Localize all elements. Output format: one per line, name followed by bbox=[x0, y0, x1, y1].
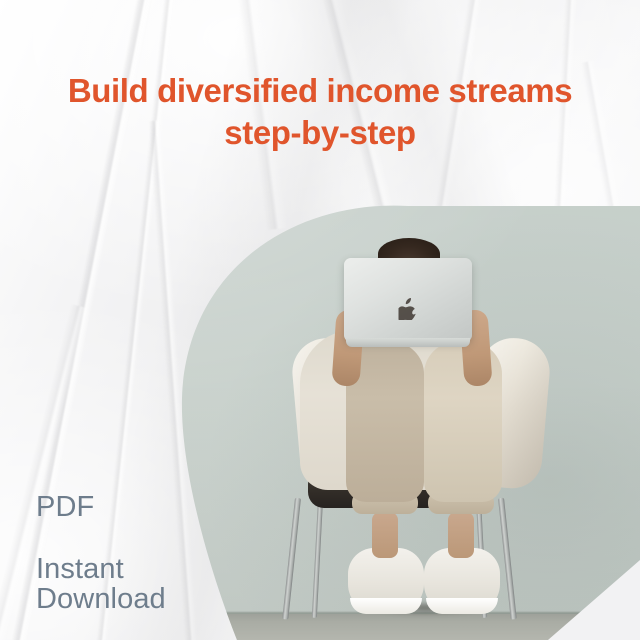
ankle bbox=[372, 512, 398, 558]
delivery-line-2: Download bbox=[36, 584, 166, 614]
headline-line-1: Build diversified income streams bbox=[0, 70, 640, 112]
ankle bbox=[448, 512, 474, 558]
headline-line-2: step-by-step bbox=[0, 112, 640, 154]
delivery-line-1: Instant bbox=[36, 554, 166, 584]
product-listing-graphic: Build diversified income streams step-by… bbox=[0, 0, 640, 640]
apple-logo-icon bbox=[399, 298, 418, 320]
macbook-laptop bbox=[344, 258, 472, 342]
page-title: Build diversified income streams step-by… bbox=[0, 70, 640, 154]
laptop-edge bbox=[346, 338, 470, 347]
file-format-label: PDF bbox=[36, 492, 94, 522]
delivery-label: Instant Download bbox=[36, 554, 166, 614]
